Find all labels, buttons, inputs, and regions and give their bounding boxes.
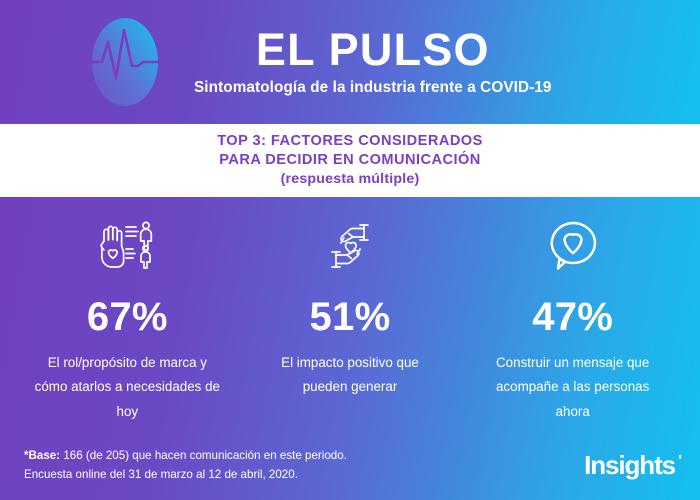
insights-brand-logo: Insights' bbox=[584, 450, 682, 481]
footnote-base-value: 166 (de 205) que hacen comunicación en e… bbox=[60, 449, 347, 462]
brand-tick-mark: ' bbox=[678, 452, 682, 469]
hands-holding-heart-icon bbox=[320, 215, 380, 277]
page-subtitle: Sintomatología de la industria frente a … bbox=[194, 79, 552, 97]
section-title-line-2: PARA DECIDIR EN COMUNICACIÓN bbox=[219, 151, 481, 170]
section-title-line-1: TOP 3: FACTORES CONSIDERADOS bbox=[217, 132, 483, 151]
stat-block: 47% Construir un mensaje que acompañe a … bbox=[461, 215, 684, 438]
footer: *Base: 166 (de 205) que hacen comunicaci… bbox=[0, 438, 700, 500]
infographic-root: EL PULSO Sintomatología de la industria … bbox=[0, 0, 700, 500]
footnote-base-label: *Base: bbox=[24, 449, 60, 462]
stat-description: Construir un mensaje que acompañe a las … bbox=[480, 351, 666, 424]
stat-value: 67% bbox=[87, 297, 168, 337]
footnote-base-line: *Base: 166 (de 205) que hacen comunicaci… bbox=[24, 447, 347, 466]
stat-description: El impacto positivo que pueden generar bbox=[257, 351, 443, 400]
section-title-line-3: (respuesta múltiple) bbox=[281, 170, 420, 189]
stat-value: 51% bbox=[310, 297, 391, 337]
stat-value: 47% bbox=[532, 297, 613, 337]
page-title: EL PULSO bbox=[256, 27, 490, 73]
hand-heart-people-icon bbox=[96, 215, 158, 277]
stat-block: 67% El rol/propósito de marca y cómo ata… bbox=[16, 215, 239, 438]
footnote-survey-line: Encuesta online del 31 de marzo al 12 de… bbox=[24, 466, 347, 485]
stat-block: 51% El impacto positivo que pueden gener… bbox=[239, 215, 462, 438]
body-area: 67% El rol/propósito de marca y cómo ata… bbox=[0, 197, 700, 500]
section-title-band: TOP 3: FACTORES CONSIDERADOS PARA DECIDI… bbox=[0, 124, 700, 197]
header-text-group: EL PULSO Sintomatología de la industria … bbox=[194, 27, 552, 98]
speech-bubble-heart-icon bbox=[545, 215, 601, 277]
stat-description: El rol/propósito de marca y cómo atarlos… bbox=[34, 351, 220, 424]
footnote-text: *Base: 166 (de 205) que hacen comunicaci… bbox=[24, 447, 347, 485]
stats-row: 67% El rol/propósito de marca y cómo ata… bbox=[0, 197, 700, 438]
header-banner: EL PULSO Sintomatología de la industria … bbox=[0, 0, 700, 124]
brand-name: Insights bbox=[584, 450, 675, 480]
pulse-circle-logo-icon bbox=[86, 16, 164, 108]
